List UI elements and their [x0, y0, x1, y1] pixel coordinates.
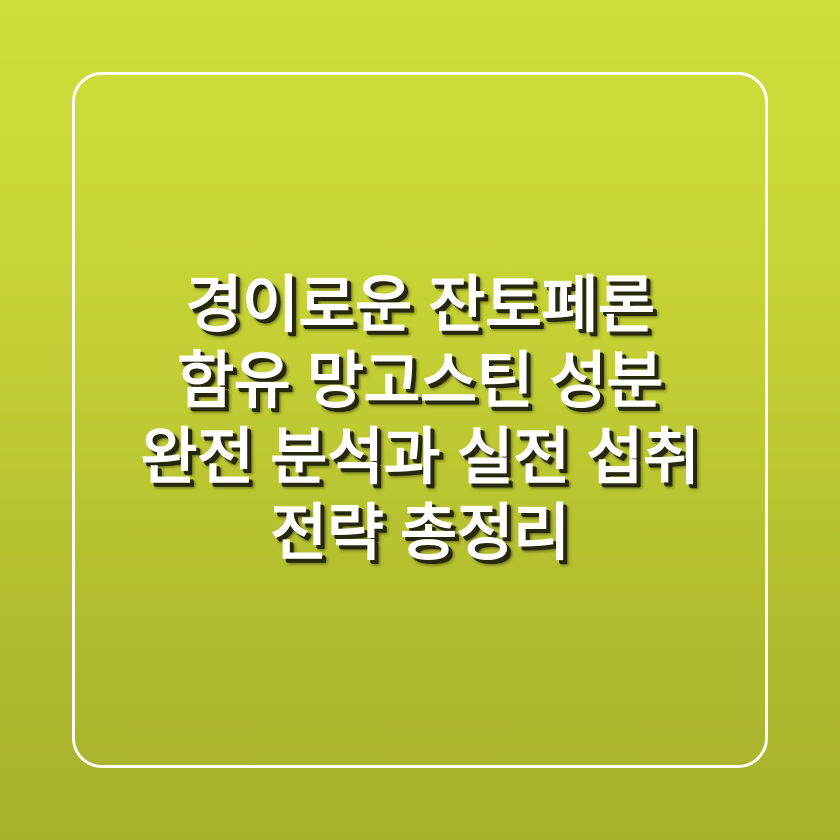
headline-line-4: 전략 총정리	[70, 496, 770, 572]
headline-line-3: 완전 분석과 실전 섭취	[70, 420, 770, 496]
headline-text: 경이로운 잔토페론 함유 망고스틴 성분 완전 분석과 실전 섭취 전략 총정리	[70, 268, 770, 572]
headline-line-2: 함유 망고스틴 성분	[70, 344, 770, 420]
title-card: 경이로운 잔토페론 함유 망고스틴 성분 완전 분석과 실전 섭취 전략 총정리	[0, 0, 840, 840]
headline-line-1: 경이로운 잔토페론	[70, 268, 770, 344]
